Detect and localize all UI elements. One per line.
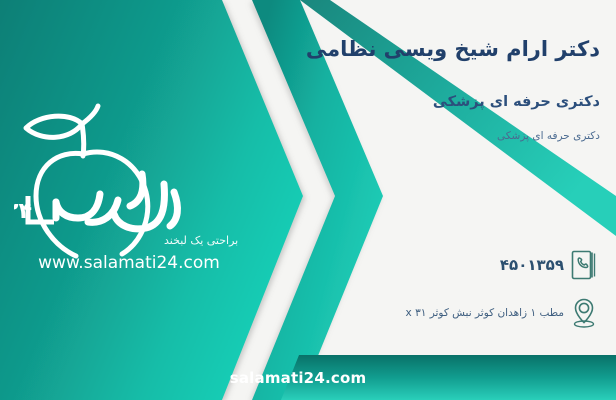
clinic-address: مطب ۱ زاهدان کوثر نبش کوثر ۳۱ x: [274, 307, 564, 319]
footer-bar: salamati24.com: [0, 355, 616, 400]
contact-row-address[interactable]: مطب ۱ زاهدان کوثر نبش کوثر ۳۱ x: [274, 294, 604, 332]
business-card: ۲۴ براحتی یک لبخند www.salamati24.com دک…: [0, 0, 616, 400]
phone-number: ۴۵۰۱۳۵۹: [274, 256, 564, 274]
logo-badge-number: ۲۴: [14, 199, 32, 224]
logo-tagline: براحتی یک لبخند: [164, 234, 238, 247]
specialty-main: دکتری حرفه ای پزشکی: [270, 93, 600, 112]
contact-row-phone[interactable]: ۴۵۰۱۳۵۹: [274, 246, 604, 284]
logo-wordmark: [56, 174, 177, 229]
specialty-sub: دکتری حرفه ای پزشکی: [270, 130, 600, 144]
salamati24-logo: ۲۴ براحتی یک لبخند www.salamati24.com: [14, 96, 244, 276]
location-pin-icon: [564, 294, 604, 332]
phone-book-icon: [564, 246, 604, 284]
logo-website: www.salamati24.com: [38, 253, 220, 273]
doctor-name: دکتر ارام شیخ ویسی نظامی: [270, 36, 600, 62]
footer-website[interactable]: salamati24.com: [0, 355, 616, 400]
contact-block: ۴۵۰۱۳۵۹ مطب ۱ زاهدان کوثر نبش کوثر ۳۱ x: [274, 246, 604, 342]
